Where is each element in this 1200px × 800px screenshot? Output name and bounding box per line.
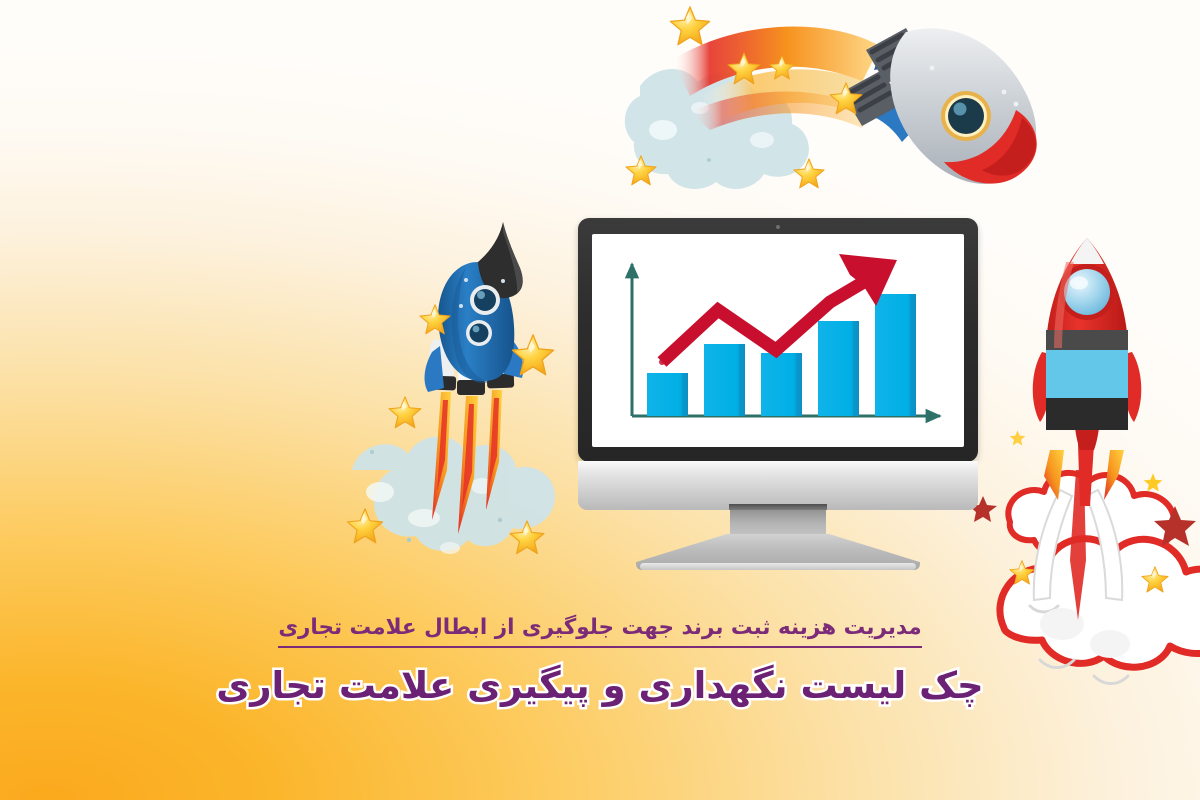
- chart-bar: [647, 373, 688, 416]
- chart-bar: [818, 321, 859, 416]
- monitor-screen: [592, 234, 964, 447]
- monitor-graphic: [578, 218, 978, 573]
- monitor-camera-icon: [776, 225, 780, 229]
- chart-trend-arrow-icon: [662, 254, 897, 362]
- chart-bars: [647, 294, 916, 416]
- monitor-chin: [578, 461, 978, 510]
- monitor-stand-base: [636, 534, 920, 570]
- monitor-bezel: [578, 218, 978, 462]
- chart-bar: [875, 294, 916, 416]
- headline-block: مدیریت هزینه ثبت برند جهت جلوگیری از ابط…: [0, 615, 1200, 708]
- chart-bar: [761, 353, 802, 416]
- promo-banner: مدیریت هزینه ثبت برند جهت جلوگیری از ابط…: [0, 0, 1200, 800]
- chart-bar: [704, 344, 745, 416]
- banner-title: چک لیست نگهداری و پیگیری علامت تجاری: [0, 664, 1200, 708]
- banner-subtitle-wrap: مدیریت هزینه ثبت برند جهت جلوگیری از ابط…: [0, 615, 1200, 648]
- bar-chart: [592, 234, 964, 447]
- banner-subtitle: مدیریت هزینه ثبت برند جهت جلوگیری از ابط…: [278, 615, 921, 648]
